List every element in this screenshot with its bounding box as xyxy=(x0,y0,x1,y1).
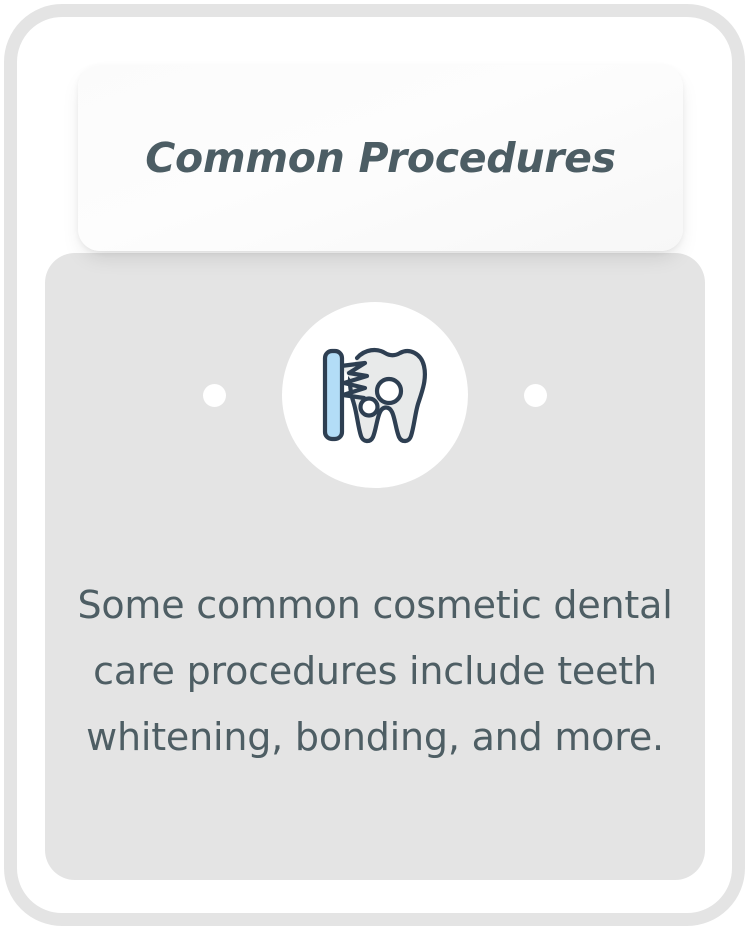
header-card[interactable]: Common Procedures xyxy=(78,65,683,251)
icon-row xyxy=(45,290,705,500)
card-screenshot-root: Common Procedures Some common co xyxy=(0,0,749,930)
decorative-dot-left xyxy=(203,384,226,407)
tooth-with-toothbrush-icon xyxy=(319,342,431,448)
card-description: Some common cosmetic dental care procedu… xyxy=(75,572,675,770)
icon-badge xyxy=(282,302,468,488)
decorative-dot-right xyxy=(524,384,547,407)
page-title: Common Procedures xyxy=(145,134,615,182)
